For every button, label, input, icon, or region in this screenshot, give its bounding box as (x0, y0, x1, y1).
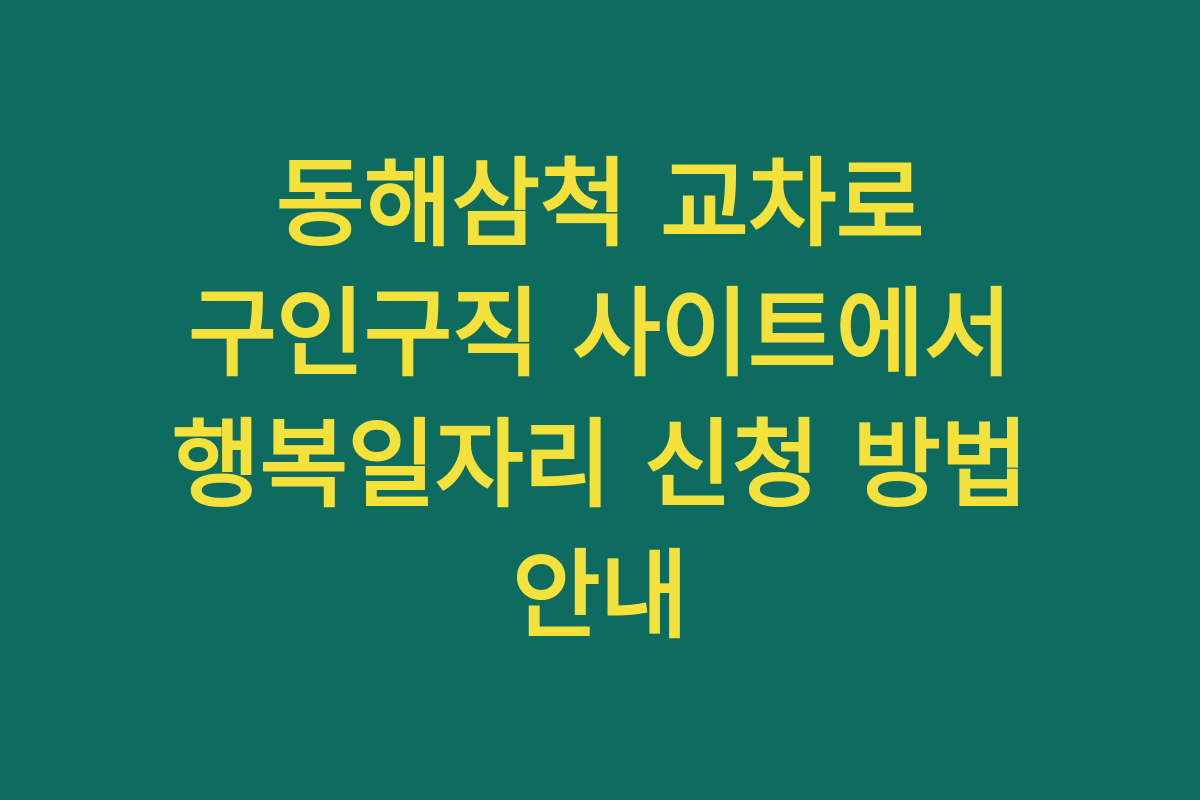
title-card: 동해삼척 교차로 구인구직 사이트에서 행복일자리 신청 방법 안내 (0, 0, 1200, 800)
page-title: 동해삼척 교차로 구인구직 사이트에서 행복일자리 신청 방법 안내 (85, 139, 1115, 661)
headline-block: 동해삼척 교차로 구인구직 사이트에서 행복일자리 신청 방법 안내 (85, 139, 1115, 661)
